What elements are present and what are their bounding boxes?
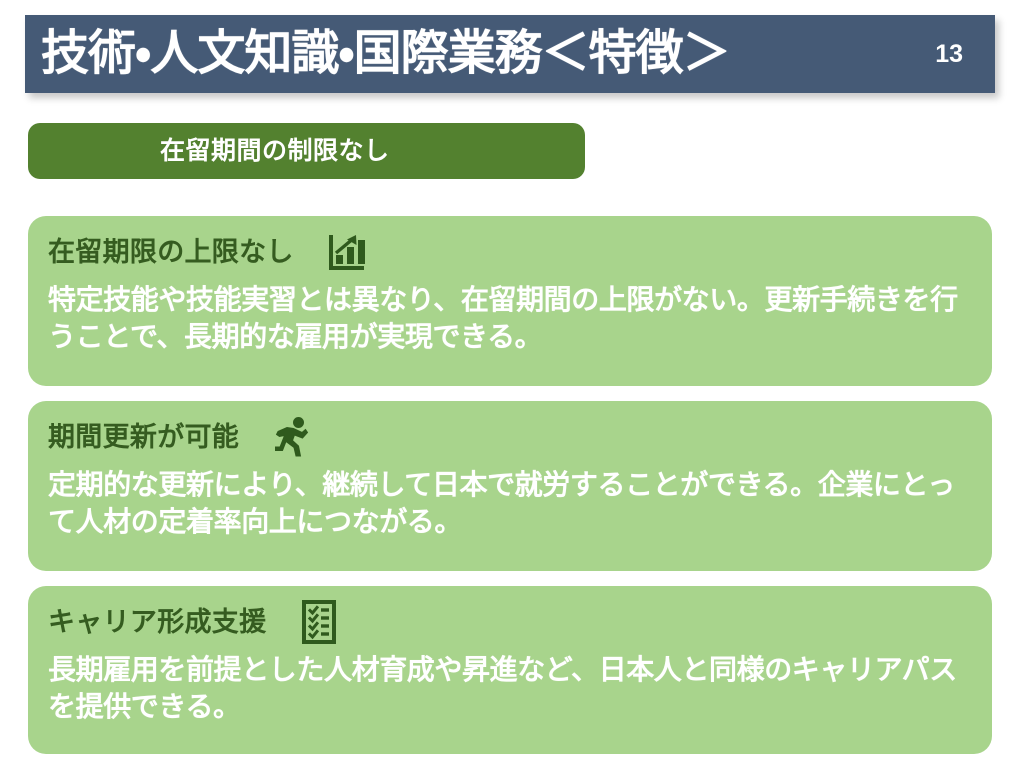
feature-card-title: 在留期限の上限なし xyxy=(48,239,294,266)
feature-card: 期間更新が可能 定期的な更新により、継続して日本で就労することができる。企業にと… xyxy=(28,401,992,571)
bar-chart-growth-icon xyxy=(324,229,370,275)
feature-card-body: 定期的な更新により、継続して日本で就労することができる。企業にとって人材の定着率… xyxy=(48,466,976,540)
feature-card-header: 在留期限の上限なし xyxy=(48,229,976,275)
feature-card-title: 期間更新が可能 xyxy=(48,424,239,451)
feature-card: 在留期限の上限なし 特定技能や技能 xyxy=(28,216,992,386)
section-banner-label: 在留期間の制限なし xyxy=(160,139,390,164)
feature-card: キャリア形成支援 xyxy=(28,586,992,754)
feature-card-body: 長期雇用を前提とした人材育成や昇進など、日本人と同様のキャリアパスを提供できる。 xyxy=(48,651,976,725)
slide-canvas: 技術・人文知識・国際業務＜特徴＞ 13 在留期間の制限なし 在留期限の上限なし xyxy=(0,0,1024,768)
section-banner: 在留期間の制限なし xyxy=(28,123,585,179)
feature-card-body: 特定技能や技能実習とは異なり、在留期間の上限がない。更新手続きを行うことで、長期… xyxy=(48,281,976,355)
feature-card-title: キャリア形成支援 xyxy=(48,609,266,636)
feature-card-header: キャリア形成支援 xyxy=(48,599,976,645)
checklist-clipboard-icon xyxy=(296,599,342,645)
page-title: 技術・人文知識・国際業務＜特徴＞ xyxy=(41,30,730,78)
running-person-icon xyxy=(269,414,315,460)
feature-card-header: 期間更新が可能 xyxy=(48,414,976,460)
slide-title-bar: 技術・人文知識・国際業務＜特徴＞ 13 xyxy=(25,15,995,93)
page-number: 13 xyxy=(935,42,977,67)
